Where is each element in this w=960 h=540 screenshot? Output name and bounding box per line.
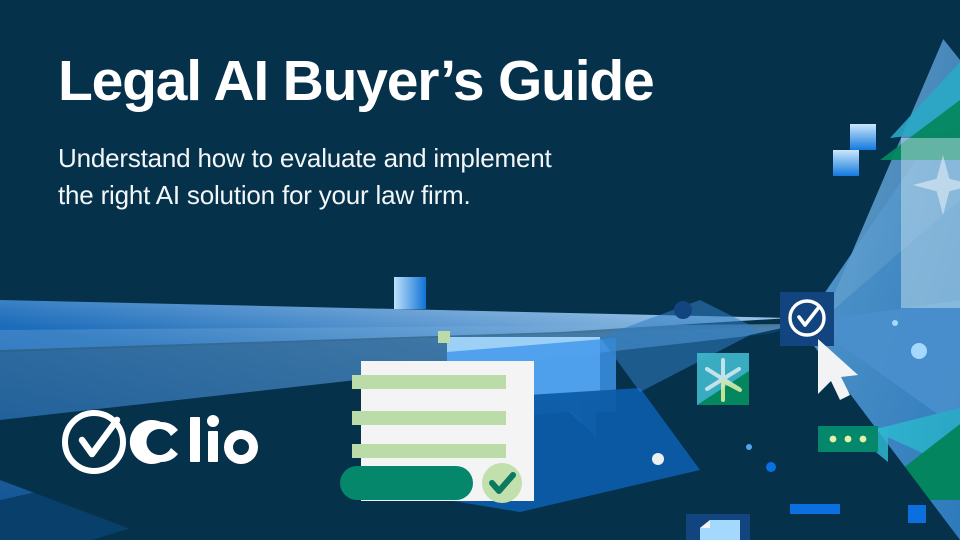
dot-tiny-cyan	[892, 320, 898, 326]
dot-white-small	[652, 453, 664, 465]
page-subtitle: Understand how to evaluate and implement…	[58, 140, 748, 214]
gradient-square-mid-left	[394, 277, 426, 309]
subtitle-line-2: the right AI solution for your law firm.	[58, 180, 471, 210]
dot-blue-tiny	[746, 444, 752, 450]
clio-checkmark-circle-icon	[65, 413, 123, 471]
copy-block: Legal AI Buyer’s Guide Understand how to…	[58, 52, 758, 214]
clio-logo-svg	[57, 405, 267, 479]
sparkle-square	[697, 353, 749, 405]
bright-blue-bar	[790, 504, 840, 514]
dot-navy	[674, 301, 692, 319]
subtitle-line-1: Understand how to evaluate and implement	[58, 143, 552, 173]
page-title: Legal AI Buyer’s Guide	[58, 52, 758, 112]
small-green-square	[438, 331, 450, 343]
clio-wordmark	[130, 415, 258, 464]
poster-canvas: Legal AI Buyer’s Guide Understand how to…	[0, 0, 960, 540]
gradient-square-top-right-lower	[833, 150, 859, 176]
blue-square-right-bottom	[908, 505, 926, 523]
dot-blue-small	[766, 462, 776, 472]
document-chip	[686, 514, 750, 540]
translucent-panel-right	[901, 138, 960, 308]
gradient-square-top-right-upper	[850, 124, 876, 150]
document-card	[340, 361, 534, 503]
dot-lightblue	[911, 343, 927, 359]
clio-checkmark-badge	[780, 292, 834, 346]
clio-logo[interactable]	[57, 405, 267, 479]
